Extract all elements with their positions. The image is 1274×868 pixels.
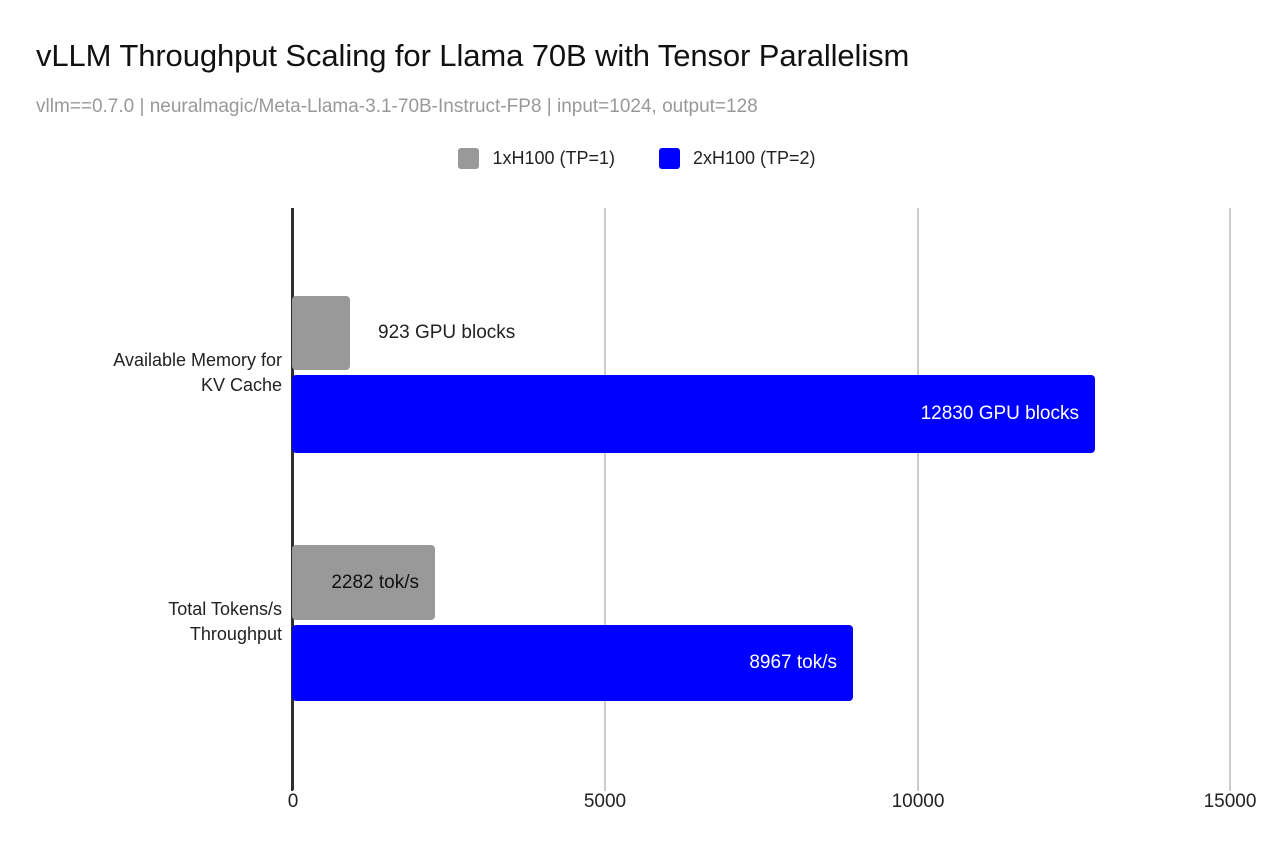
gridline-10000 — [917, 208, 919, 790]
category-label-line: Throughput — [42, 622, 282, 647]
gridline-5000 — [604, 208, 606, 790]
y-axis-category-label-kv-cache: Available Memory for KV Cache — [42, 348, 282, 398]
bar-value-label-2282: 2282 tok/s — [331, 572, 435, 594]
bar-1xh100-throughput[interactable]: 2282 tok/s — [292, 545, 435, 620]
gridline-15000 — [1229, 208, 1231, 790]
tick-mark-5000 — [604, 777, 606, 791]
y-axis-category-label-throughput: Total Tokens/s Throughput — [42, 597, 282, 647]
x-axis-tick-label: 0 — [288, 791, 299, 813]
x-axis-tick-label: 15000 — [1204, 791, 1257, 813]
tick-mark-15000 — [1229, 777, 1231, 791]
bar-value-label-923: 923 GPU blocks — [378, 322, 515, 344]
x-axis-tick-label: 5000 — [584, 791, 626, 813]
category-label-line: Available Memory for — [42, 348, 282, 373]
bar-1xh100-kv-cache[interactable] — [292, 296, 350, 370]
tick-mark-0 — [291, 777, 293, 791]
category-label-line: Total Tokens/s — [42, 597, 282, 622]
bar-value-label-12830: 12830 GPU blocks — [921, 403, 1095, 425]
bar-2xh100-kv-cache[interactable]: 12830 GPU blocks — [292, 375, 1095, 453]
bar-chart-plot: 0 5000 10000 15000 Available Memory for … — [0, 0, 1274, 868]
bar-2xh100-throughput[interactable]: 8967 tok/s — [292, 625, 853, 701]
tick-mark-10000 — [917, 777, 919, 791]
category-label-line: KV Cache — [42, 373, 282, 398]
bar-value-label-8967: 8967 tok/s — [749, 652, 853, 674]
x-axis-tick-label: 10000 — [892, 791, 945, 813]
